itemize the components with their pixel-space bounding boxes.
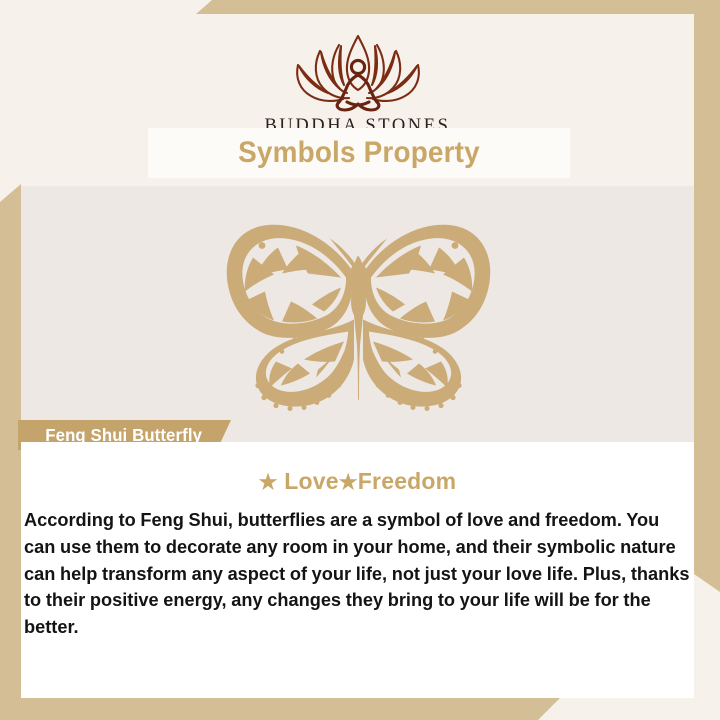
poster-root: BUDDHA STONES Symbols Property bbox=[0, 0, 720, 720]
butterfly-icon bbox=[198, 212, 518, 417]
frame-band-bottom bbox=[0, 698, 560, 720]
description-paragraph: According to Feng Shui, butterflies are … bbox=[21, 507, 694, 641]
description-panel: ★ Love★Freedom According to Feng Shui, b… bbox=[21, 442, 694, 698]
subheading-word-love: Love bbox=[284, 468, 338, 494]
frame-band-top bbox=[196, 0, 720, 14]
inner-card: BUDDHA STONES Symbols Property bbox=[21, 14, 694, 698]
symbol-stage: Feng Shui Butterfly bbox=[21, 186, 694, 442]
subheading: ★ Love★Freedom bbox=[21, 468, 694, 495]
star-icon-mid: ★ bbox=[339, 471, 358, 494]
subheading-word-freedom: Freedom bbox=[358, 468, 457, 494]
lotus-meditation-icon bbox=[283, 30, 433, 114]
star-icon-left: ★ bbox=[259, 471, 278, 494]
frame-band-left bbox=[0, 184, 21, 720]
frame-band-right bbox=[694, 14, 720, 592]
page-title: Symbols Property bbox=[238, 136, 480, 170]
brand-header: BUDDHA STONES bbox=[21, 30, 694, 137]
title-band: Symbols Property bbox=[148, 128, 570, 178]
